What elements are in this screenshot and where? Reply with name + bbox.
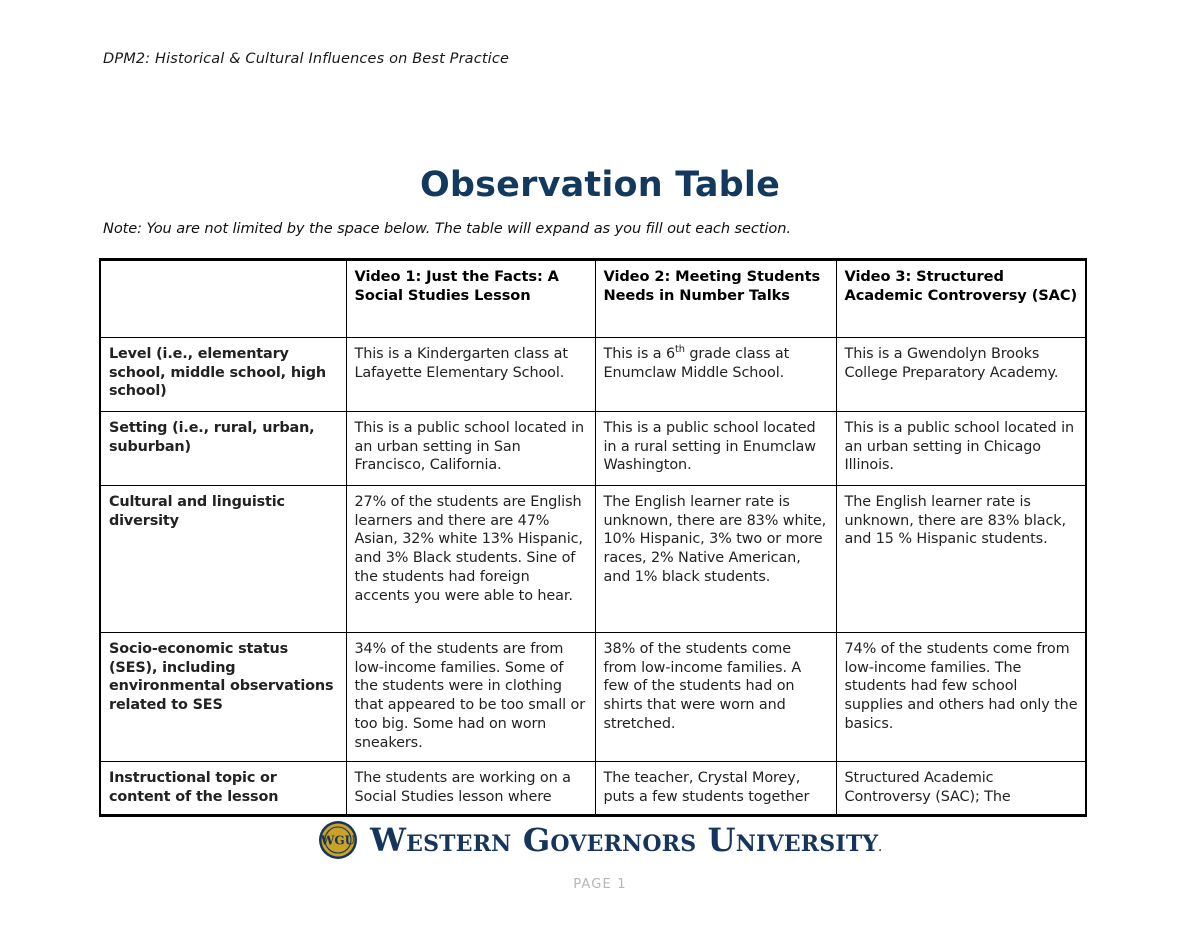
table-row: Instructional topic or content of the le… <box>100 762 1086 816</box>
cell-level-video-2: This is a 6th grade class at Enumclaw Mi… <box>595 338 836 412</box>
table-corner-cell <box>100 260 346 338</box>
instructions-note: Note: You are not limited by the space b… <box>103 220 791 237</box>
observation-table: Video 1: Just the Facts: A Social Studie… <box>99 258 1087 817</box>
cell-level-video-1: This is a Kindergarten class at Lafayett… <box>346 338 595 412</box>
cell-topic-video-2: The teacher, Crystal Morey, puts a few s… <box>595 762 836 816</box>
table-row: Level (i.e., elementary school, middle s… <box>100 338 1086 412</box>
row-label-level: Level (i.e., elementary school, middle s… <box>100 338 346 412</box>
table-row: Socio-economic status (SES), including e… <box>100 633 1086 762</box>
wgu-seal-icon: WGU <box>318 820 358 860</box>
page-number: PAGE 1 <box>0 877 1200 892</box>
observation-table-container: Video 1: Just the Facts: A Social Studie… <box>99 258 1085 817</box>
table-row: Setting (i.e., rural, urban, suburban) T… <box>100 412 1086 486</box>
running-header: DPM2: Historical & Cultural Influences o… <box>103 51 509 67</box>
cell-setting-video-2: This is a public school located in a rur… <box>595 412 836 486</box>
wgu-wordmark: Western Governors University. <box>370 824 882 856</box>
svg-text:WGU: WGU <box>320 834 356 848</box>
row-label-instructional-topic: Instructional topic or content of the le… <box>100 762 346 816</box>
cell-cultural-video-2: The English learner rate is unknown, the… <box>595 486 836 633</box>
cell-cultural-video-1: 27% of the students are English learners… <box>346 486 595 633</box>
ordinal-suffix: th <box>675 344 685 355</box>
table-header-row: Video 1: Just the Facts: A Social Studie… <box>100 260 1086 338</box>
wgu-wordmark-tm: . <box>878 843 882 854</box>
cell-ses-video-3: 74% of the students come from low-income… <box>836 633 1086 762</box>
cell-topic-video-1: The students are working on a Social Stu… <box>346 762 595 816</box>
cell-setting-video-3: This is a public school located in an ur… <box>836 412 1086 486</box>
cell-level-video-3: This is a Gwendolyn Brooks College Prepa… <box>836 338 1086 412</box>
table-row: Cultural and linguistic diversity 27% of… <box>100 486 1086 633</box>
row-label-ses: Socio-economic status (SES), including e… <box>100 633 346 762</box>
cell-setting-video-1: This is a public school located in an ur… <box>346 412 595 486</box>
column-header-video-2: Video 2: Meeting Students Needs in Numbe… <box>595 260 836 338</box>
row-label-setting: Setting (i.e., rural, urban, suburban) <box>100 412 346 486</box>
document-page: DPM2: Historical & Cultural Influences o… <box>0 0 1200 927</box>
row-label-cultural-diversity: Cultural and linguistic diversity <box>100 486 346 633</box>
wgu-wordmark-text: Western Governors University <box>370 821 878 859</box>
cell-cultural-video-3: The English learner rate is unknown, the… <box>836 486 1086 633</box>
column-header-video-1: Video 1: Just the Facts: A Social Studie… <box>346 260 595 338</box>
cell-ses-video-2: 38% of the students come from low-income… <box>595 633 836 762</box>
cell-topic-video-3: Structured Academic Controversy (SAC); T… <box>836 762 1086 816</box>
cell-ses-video-1: 34% of the students are from low-income … <box>346 633 595 762</box>
column-header-video-3: Video 3: Structured Academic Controversy… <box>836 260 1086 338</box>
cell-text-pre: This is a 6 <box>604 346 676 362</box>
wgu-logo: WGU Western Governors University. <box>0 820 1200 860</box>
page-title: Observation Table <box>0 165 1200 205</box>
